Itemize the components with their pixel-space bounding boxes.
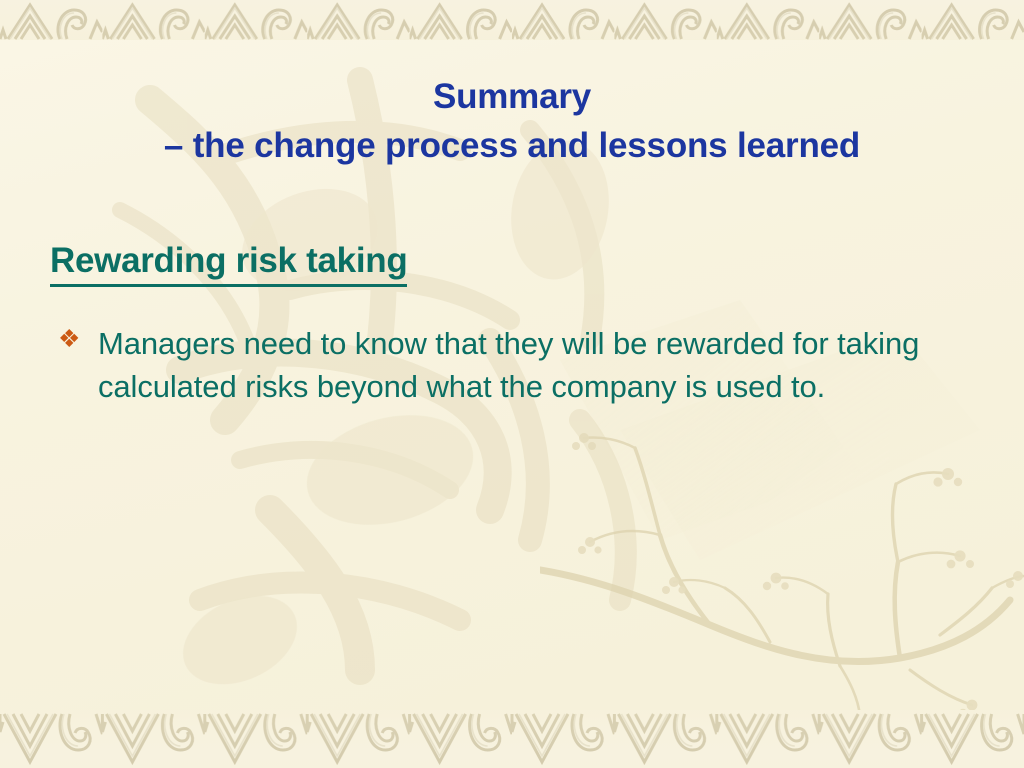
bullet-list: ❖ Managers need to know that they will b…	[50, 322, 970, 408]
slide-title-line-2: – the change process and lessons learned	[0, 121, 1024, 170]
presentation-slide: Summary – the change process and lessons…	[0, 0, 1024, 768]
list-item: ❖ Managers need to know that they will b…	[50, 322, 970, 408]
list-item-text: Managers need to know that they will be …	[98, 322, 968, 408]
diamond-bullet-icon: ❖	[58, 327, 80, 352]
slide-content: Summary – the change process and lessons…	[0, 0, 1024, 768]
slide-title-line-1: Summary	[0, 72, 1024, 121]
section-heading: Rewarding risk taking	[50, 240, 407, 287]
slide-title: Summary – the change process and lessons…	[0, 72, 1024, 170]
